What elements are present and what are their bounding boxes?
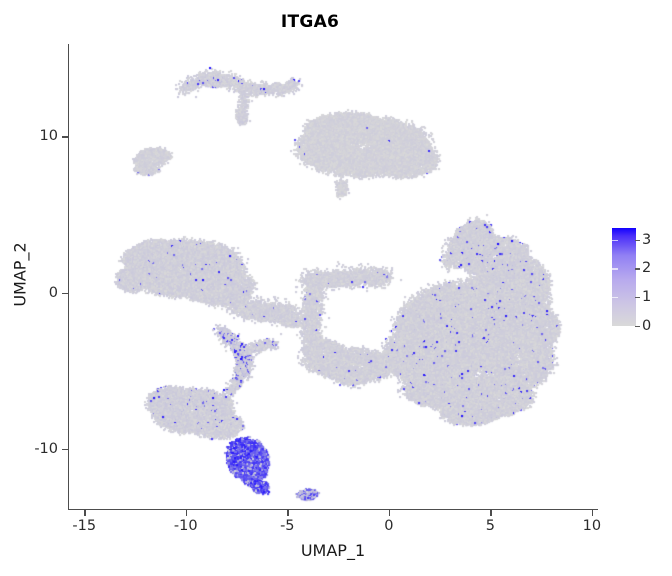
colorbar-tick <box>635 240 640 241</box>
colorbar-inner-tick <box>612 240 618 241</box>
x-tick-label: -5 <box>280 518 294 534</box>
y-tick-label: 10 <box>2 128 58 144</box>
colorbar-inner-tick <box>612 268 618 269</box>
scatter-points-canvas <box>68 44 598 510</box>
colorbar-gradient <box>612 228 636 326</box>
y-tick <box>62 136 68 137</box>
y-axis-line <box>68 44 69 510</box>
x-tick <box>592 510 593 516</box>
expression-colorbar[interactable] <box>612 228 636 326</box>
x-tick-label: 5 <box>486 518 495 534</box>
x-tick <box>287 510 288 516</box>
colorbar-inner-tick <box>612 297 618 298</box>
umap-feature-plot: ITGA6 -15-10-50510 100-10 UMAP_1 UMAP_2 … <box>0 0 672 576</box>
colorbar-tick-label: 0 <box>642 318 651 334</box>
x-tick <box>490 510 491 516</box>
x-tick-label: -15 <box>72 518 96 534</box>
x-tick <box>84 510 85 516</box>
x-tick-label: -10 <box>174 518 198 534</box>
y-tick-label: -10 <box>2 441 58 457</box>
x-tick-label: 10 <box>583 518 601 534</box>
colorbar-tick-label: 2 <box>642 260 651 276</box>
colorbar-tick-label: 3 <box>642 232 651 248</box>
colorbar-inner-tick <box>612 326 618 327</box>
y-tick <box>62 449 68 450</box>
y-tick <box>62 293 68 294</box>
colorbar-tick <box>635 268 640 269</box>
plot-area <box>68 44 598 510</box>
x-tick <box>186 510 187 516</box>
x-tick-label: 0 <box>384 518 393 534</box>
x-axis-title: UMAP_1 <box>68 541 598 560</box>
colorbar-tick-label: 1 <box>642 289 651 305</box>
y-axis-title: UMAP_2 <box>11 210 30 340</box>
colorbar-tick <box>635 297 640 298</box>
x-tick <box>389 510 390 516</box>
x-axis-line <box>68 509 598 510</box>
plot-title: ITGA6 <box>0 12 620 32</box>
colorbar-tick <box>635 326 640 327</box>
